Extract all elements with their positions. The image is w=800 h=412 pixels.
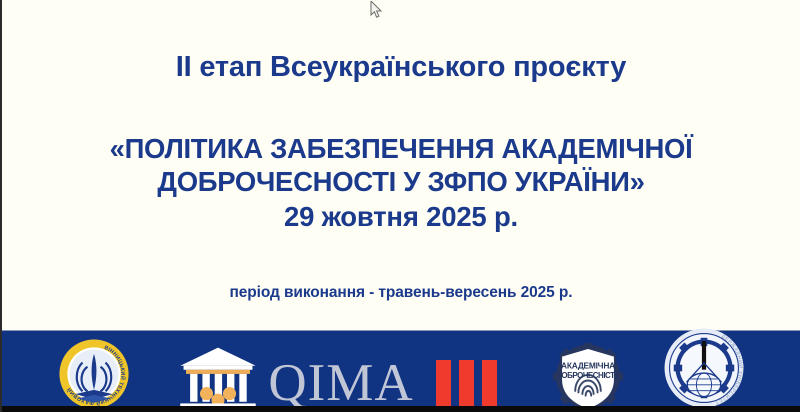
logo-institution-temple [177, 348, 259, 410]
circular-emblem-icon: ВІННИЦЬКИЙ ТЕХНІЧНИЙ ФАХОВИЙ [58, 338, 130, 410]
presentation-slide: II етап Всеукраїнського проєкту «ПОЛІТИК… [0, 0, 800, 412]
logo-university-seal: ДЕРЖАВНИЙ УНІВЕРСИТЕТ [662, 344, 746, 410]
project-name-line-1: «ПОЛІТИКА ЗАБЕЗПЕЧЕННЯ АКАДЕМІЧНОЇ [110, 132, 693, 165]
shield-label-line-2: ДОБРОЧЕСНІСТЬ [556, 371, 620, 380]
three-bars-icon [434, 360, 500, 410]
execution-period: період виконання - травень-вересень 2025… [230, 285, 573, 301]
circular-seal-icon: ДЕРЖАВНИЙ УНІВЕРСИТЕТ [662, 326, 746, 410]
event-date: 29 жовтня 2025 р. [110, 200, 693, 234]
project-name-line-2: ДОБРОЧЕСНОСТІ У ЗФПО УКРАЇНИ» [110, 165, 693, 198]
logo-qima: QIMA [270, 352, 412, 410]
logo-vtf-emblem: ВІННИЦЬКИЙ ТЕХНІЧНИЙ ФАХОВИЙ [58, 344, 130, 410]
project-name-block: «ПОЛІТИКА ЗАБЕЗПЕЧЕННЯ АКАДЕМІЧНОЇ ДОБРО… [110, 132, 693, 234]
logo-academic-integrity: АКАДЕМІЧНА ДОБРОЧЕСНІСТЬ [548, 344, 628, 410]
slide-text-area: II етап Всеукраїнського проєкту «ПОЛІТИК… [2, 0, 800, 330]
classical-temple-icon [177, 346, 259, 410]
project-stage-title: II етап Всеукраїнського проєкту [176, 53, 626, 82]
qima-wordmark-icon: QIMA [268, 357, 413, 410]
partner-logo-band: ВІННИЦЬКИЙ ТЕХНІЧНИЙ ФАХОВИЙ [2, 330, 800, 412]
logo-three-red-bars [434, 360, 500, 410]
shield-label-line-1: АКАДЕМІЧНА [561, 361, 615, 371]
shield-fingerprint-icon: АКАДЕМІЧНА ДОБРОЧЕСНІСТЬ [548, 343, 628, 410]
